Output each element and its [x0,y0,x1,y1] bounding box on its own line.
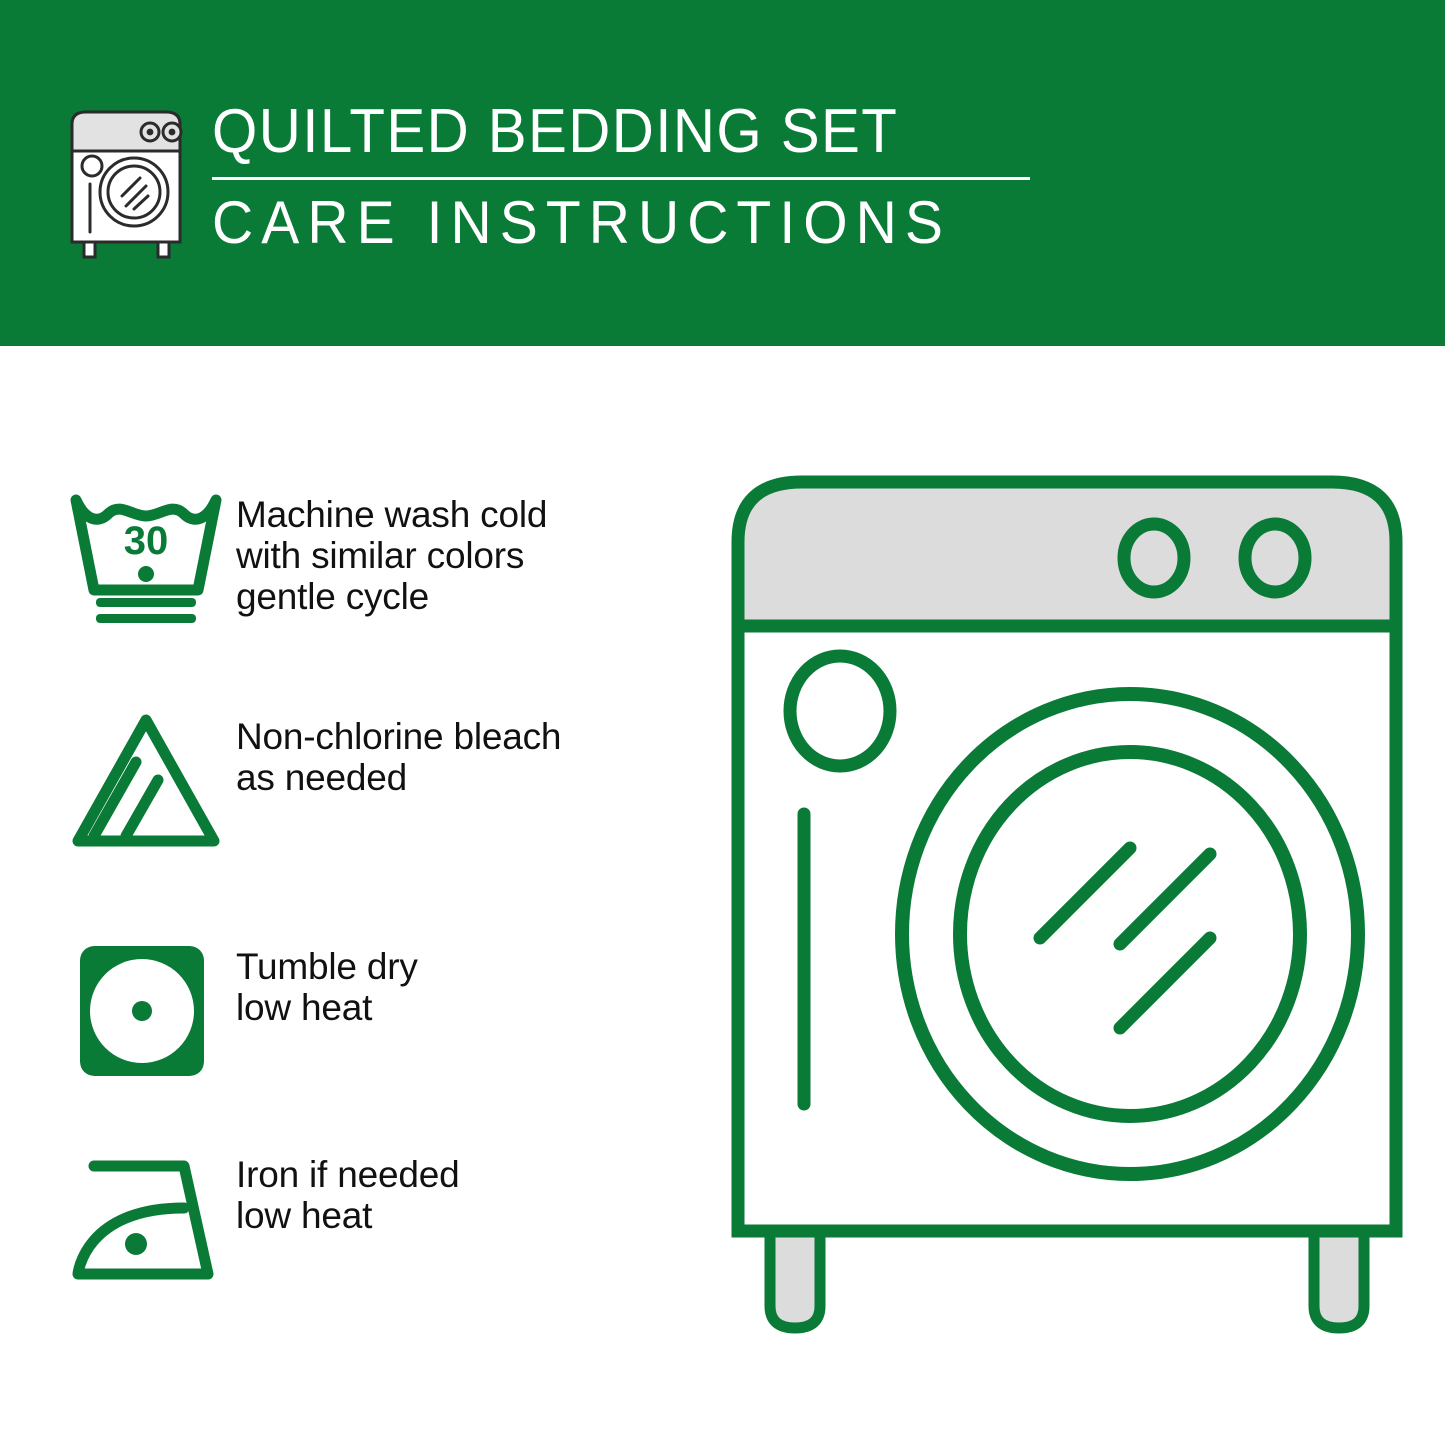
care-text-line: Non-chlorine bleach [236,716,686,757]
care-item-machine-wash-text: Machine wash cold with similar colors ge… [236,486,686,617]
care-item-iron-text: Iron if needed low heat [236,1146,686,1236]
care-instructions-label: QUILTED BEDDING SET CARE INSTRUCTIONS [0,0,1445,1445]
header-band: QUILTED BEDDING SET CARE INSTRUCTIONS [0,0,1445,346]
non-chlorine-bleach-triangle-symbol [66,708,236,853]
wash-temperature-label: 30 [124,519,169,563]
header-content: QUILTED BEDDING SET CARE INSTRUCTIONS [62,96,1392,266]
iron-low-heat-symbol [66,1146,236,1291]
large-washing-machine-illustration [722,466,1412,1356]
care-text-line: Tumble dry [236,946,686,987]
indicator-light [790,656,890,766]
tumble-dry-low-heat-symbol [66,938,236,1083]
page-title: QUILTED BEDDING SET [212,96,1058,168]
care-text-line: as needed [236,757,686,798]
wash-tub-30-symbol: 30 [66,486,236,631]
care-text-line: Iron if needed [236,1154,686,1195]
care-item-bleach: Non-chlorine bleach as needed [66,708,686,853]
header-text-block: QUILTED BEDDING SET CARE INSTRUCTIONS [212,96,1112,257]
care-item-tumble-dry-text: Tumble dry low heat [236,938,686,1028]
page-subtitle: CARE INSTRUCTIONS [212,189,1067,257]
washing-machine-icon [62,104,192,259]
control-knob-2 [1245,524,1305,592]
care-text-line: low heat [236,987,686,1028]
title-divider [212,177,1030,180]
machine-foot-right [1314,1226,1364,1328]
care-text-line: Machine wash cold [236,494,686,535]
control-knob-1 [1124,524,1184,592]
care-text-line: with similar colors [236,535,686,576]
body-area: 30 Machine wash cold with similar colors… [0,346,1445,1445]
care-text-line: gentle cycle [236,576,686,617]
care-item-bleach-text: Non-chlorine bleach as needed [236,708,686,798]
machine-foot-left [770,1226,820,1328]
care-item-tumble-dry: Tumble dry low heat [66,938,686,1083]
care-item-iron: Iron if needed low heat [66,1146,686,1291]
care-item-machine-wash: 30 Machine wash cold with similar colors… [66,486,686,631]
care-text-line: low heat [236,1195,686,1236]
